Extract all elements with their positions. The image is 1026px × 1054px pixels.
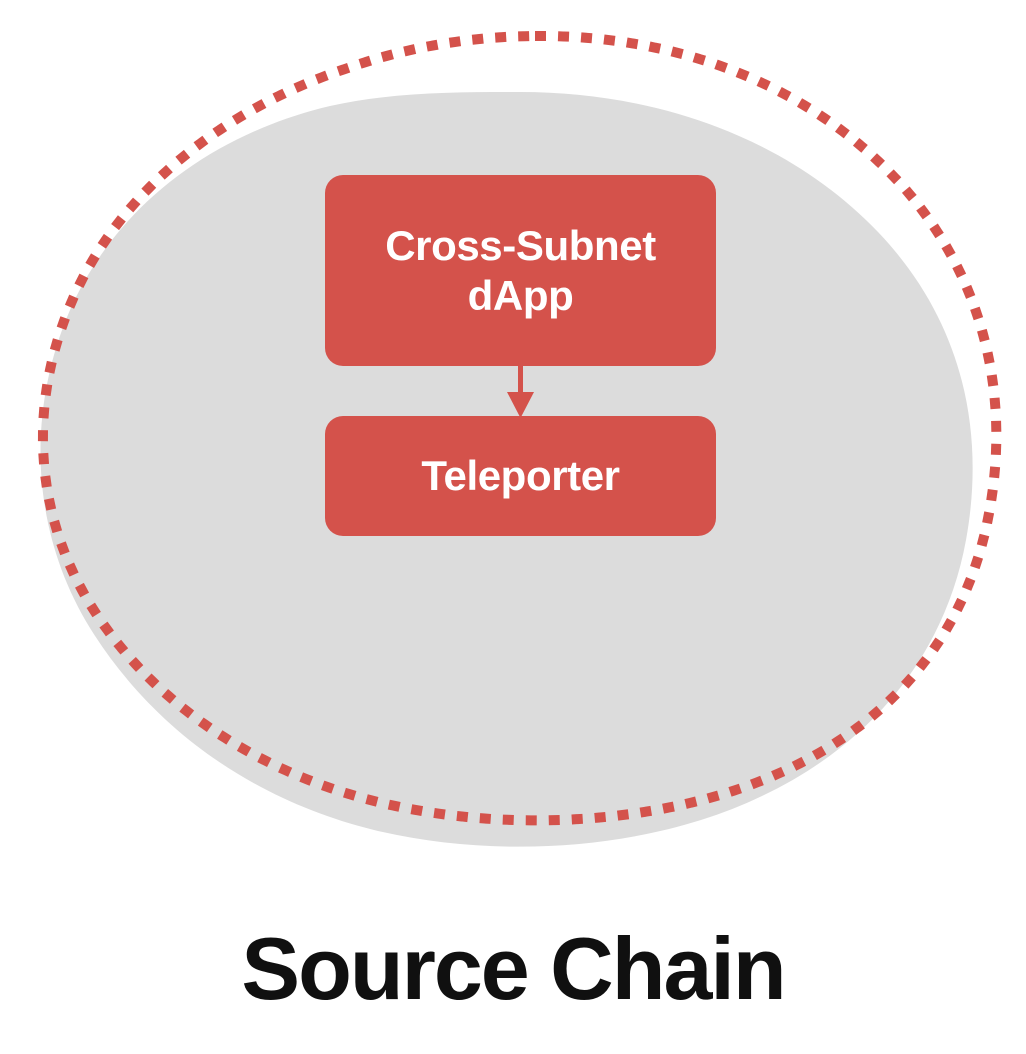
node-teleporter[interactable]: Teleporter xyxy=(325,416,716,536)
node-cross-subnet-dapp-label: Cross-Subnet dApp xyxy=(339,221,702,319)
node-cross-subnet-dapp[interactable]: Cross-Subnet dApp xyxy=(325,175,716,366)
chain-title: Source Chain xyxy=(0,925,1026,1013)
diagram-canvas: Cross-Subnet dApp Teleporter Source Chai… xyxy=(0,0,1026,1054)
node-teleporter-label: Teleporter xyxy=(325,451,716,500)
